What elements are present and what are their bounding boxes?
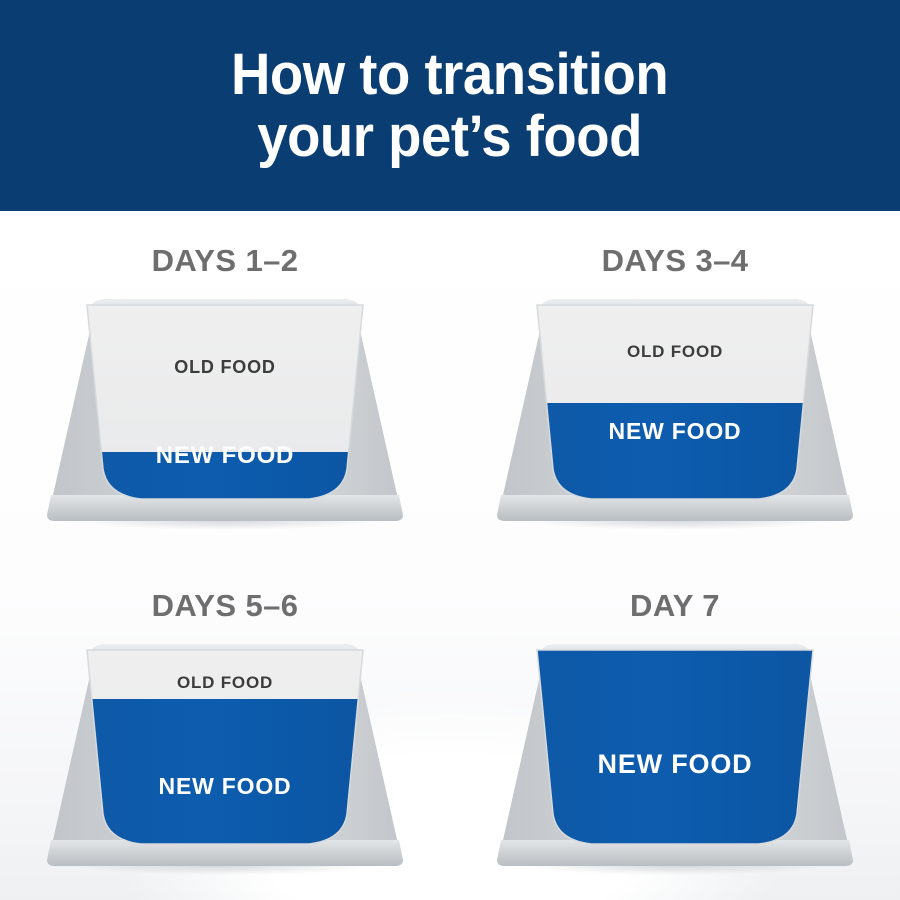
infographic-page: How to transition your pet’s food DAYS 1… xyxy=(0,0,900,900)
food-bowl: OLD FOOD NEW FOOD xyxy=(47,644,403,874)
step-card-days-3-4: DAYS 3–4 xyxy=(450,211,900,556)
page-title: How to transition your pet’s food xyxy=(203,44,697,167)
food-bowl: OLD FOOD NEW FOOD xyxy=(497,299,853,529)
food-bowl: NEW FOOD xyxy=(497,644,853,874)
step-day-label: DAYS 1–2 xyxy=(0,243,450,279)
step-day-label: DAY 7 xyxy=(450,588,900,624)
step-day-label: DAYS 5–6 xyxy=(0,588,450,624)
steps-area: DAYS 1–2 xyxy=(0,211,900,900)
header-banner: How to transition your pet’s food xyxy=(0,0,900,211)
food-bowl: OLD FOOD NEW FOOD xyxy=(47,299,403,529)
step-day-label: DAYS 3–4 xyxy=(450,243,900,279)
bowl-illustration xyxy=(47,299,403,529)
bowl-illustration xyxy=(47,644,403,874)
step-card-days-5-6: DAYS 5–6 xyxy=(0,556,450,900)
steps-grid: DAYS 1–2 xyxy=(0,211,900,900)
bowl-illustration xyxy=(497,299,853,529)
step-card-day-7: DAY 7 xyxy=(450,556,900,900)
bowl-illustration xyxy=(497,644,853,874)
step-card-days-1-2: DAYS 1–2 xyxy=(0,211,450,556)
